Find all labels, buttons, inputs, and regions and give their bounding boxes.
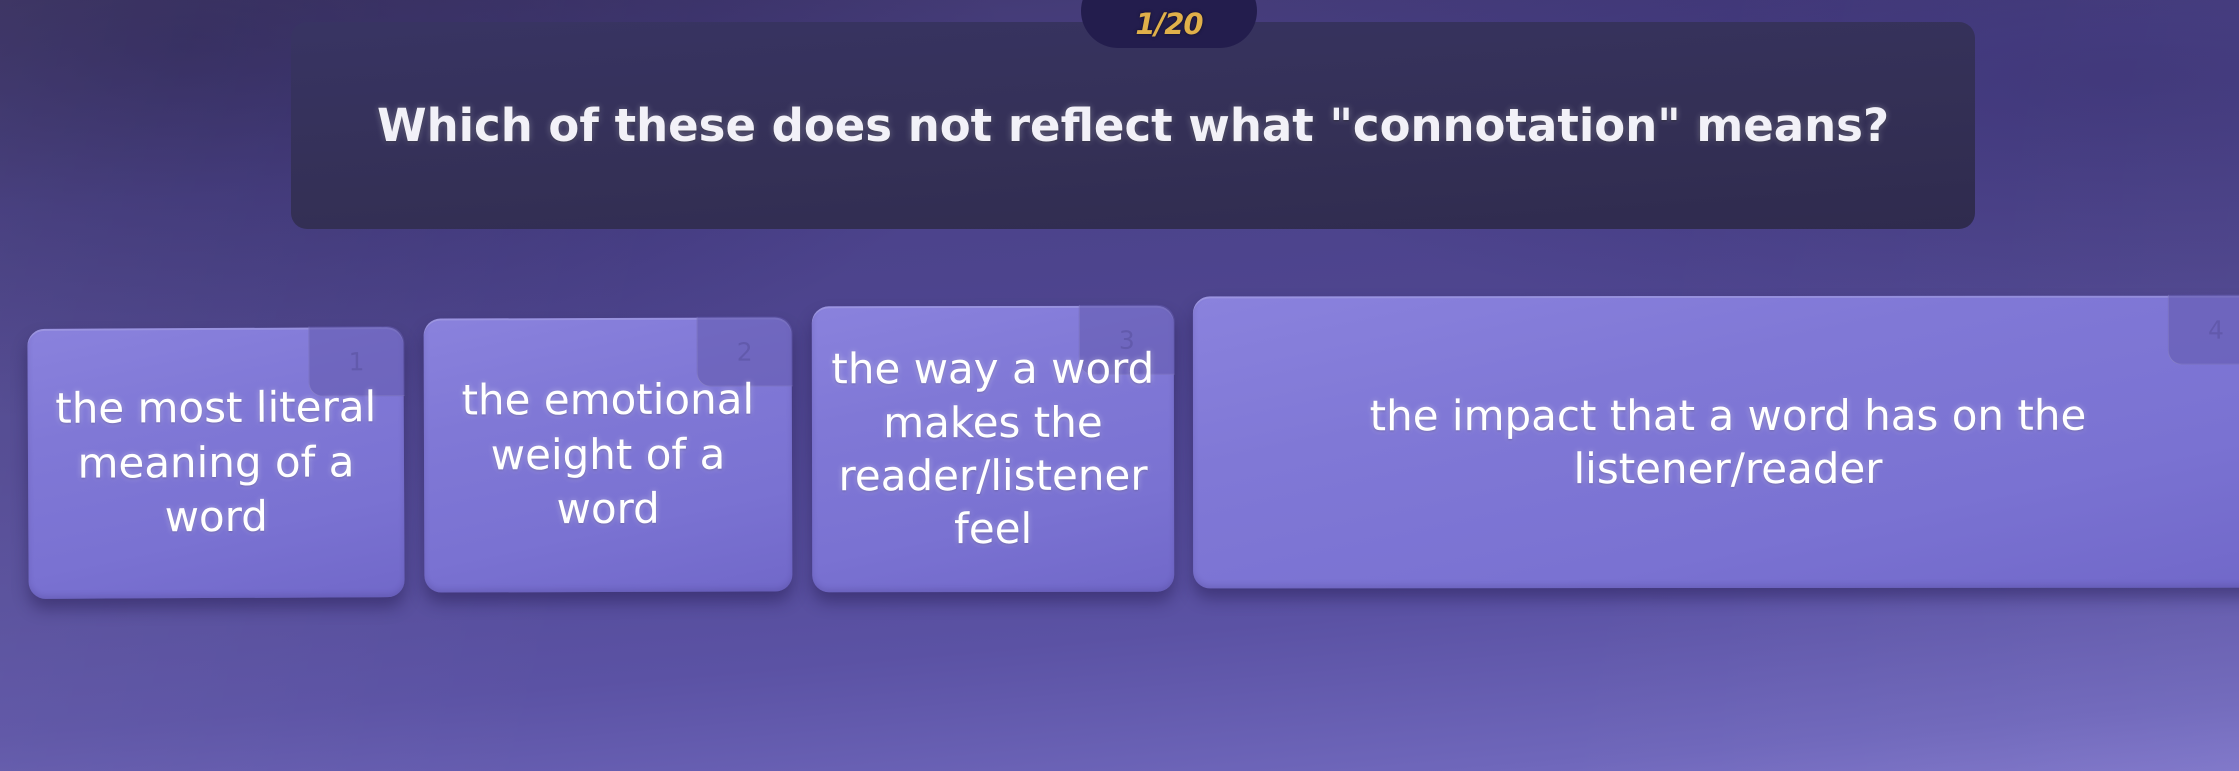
answer-label-4: the impact that a word has on the listen…: [1193, 388, 2239, 495]
answer-option-1[interactable]: 1 the most literal meaning of a word: [27, 327, 404, 599]
answer-option-2[interactable]: 2 the emotional weight of a word: [424, 317, 793, 592]
answer-option-3[interactable]: 3 the way a word makes the reader/listen…: [812, 306, 1174, 593]
answer-options-row: 1 the most literal meaning of a word 2 t…: [0, 300, 2239, 720]
answer-label-2: the emotional weight of a word: [424, 373, 793, 538]
answer-index-badge-4: 4: [2168, 295, 2239, 365]
answer-option-4[interactable]: 4 the impact that a word has on the list…: [1193, 296, 2239, 589]
progress-badge: 1/20: [1081, 0, 1257, 48]
answer-index-label-2: 2: [737, 337, 753, 366]
question-text: Which of these does not reflect what "co…: [331, 99, 1935, 152]
answer-label-3: the way a word makes the reader/listener…: [812, 342, 1174, 556]
progress-counter: 1/20: [1135, 7, 1202, 41]
answer-index-label-4: 4: [2208, 315, 2224, 344]
question-panel: Which of these does not reflect what "co…: [291, 22, 1975, 229]
answer-index-label-1: 1: [348, 347, 364, 376]
answer-label-1: the most literal meaning of a word: [28, 380, 405, 546]
